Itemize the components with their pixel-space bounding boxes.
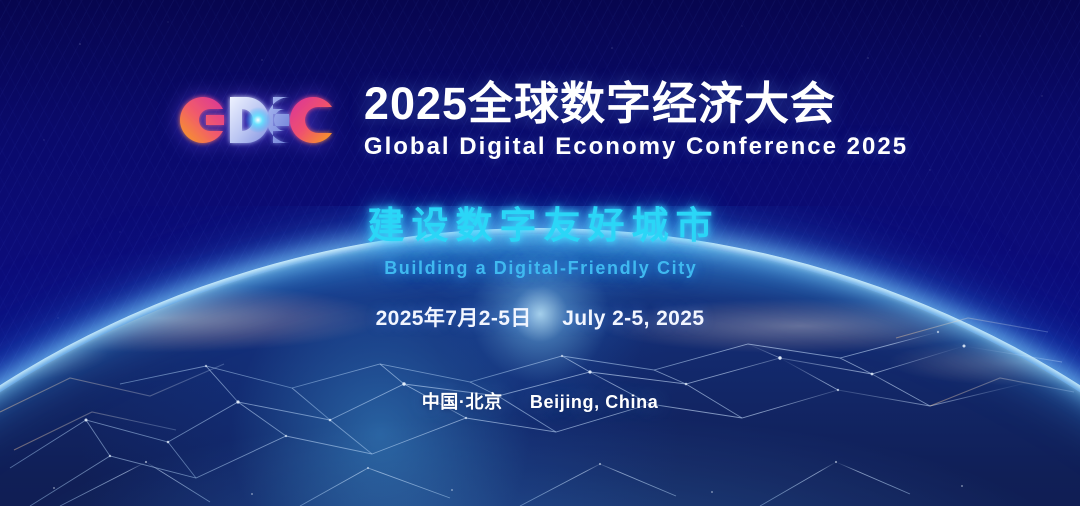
conference-poster: 2025全球数字经济大会 Global Digital Economy Conf… [0, 0, 1080, 506]
title-block: 2025全球数字经济大会 Global Digital Economy Conf… [364, 78, 908, 162]
event-date-cn: 2025年7月2-5日 [376, 307, 532, 330]
event-date-en: July 2-5, 2025 [562, 307, 704, 330]
poster-content: 2025全球数字经济大会 Global Digital Economy Conf… [0, 0, 1080, 506]
header-row: 2025全球数字经济大会 Global Digital Economy Conf… [0, 78, 1080, 162]
page-title-cn: 2025全球数字经济大会 [364, 78, 908, 130]
event-location: 中国·北京 Beijing, China [0, 388, 1080, 414]
event-date: 2025年7月2-5日 July 2-5, 2025 [0, 302, 1080, 332]
page-title-en: Global Digital Economy Conference 2025 [364, 133, 908, 162]
theme-slogan-cn: 建设数字友好城市 [0, 203, 1080, 249]
theme-block: 建设数字友好城市 Building a Digital-Friendly Cit… [0, 203, 1080, 279]
event-location-en: Beijing, China [530, 392, 658, 412]
gdec-logo [172, 89, 342, 151]
event-location-cn: 中国·北京 [422, 392, 503, 412]
logo-core-glow [245, 107, 271, 133]
theme-slogan-en: Building a Digital-Friendly City [0, 258, 1080, 279]
